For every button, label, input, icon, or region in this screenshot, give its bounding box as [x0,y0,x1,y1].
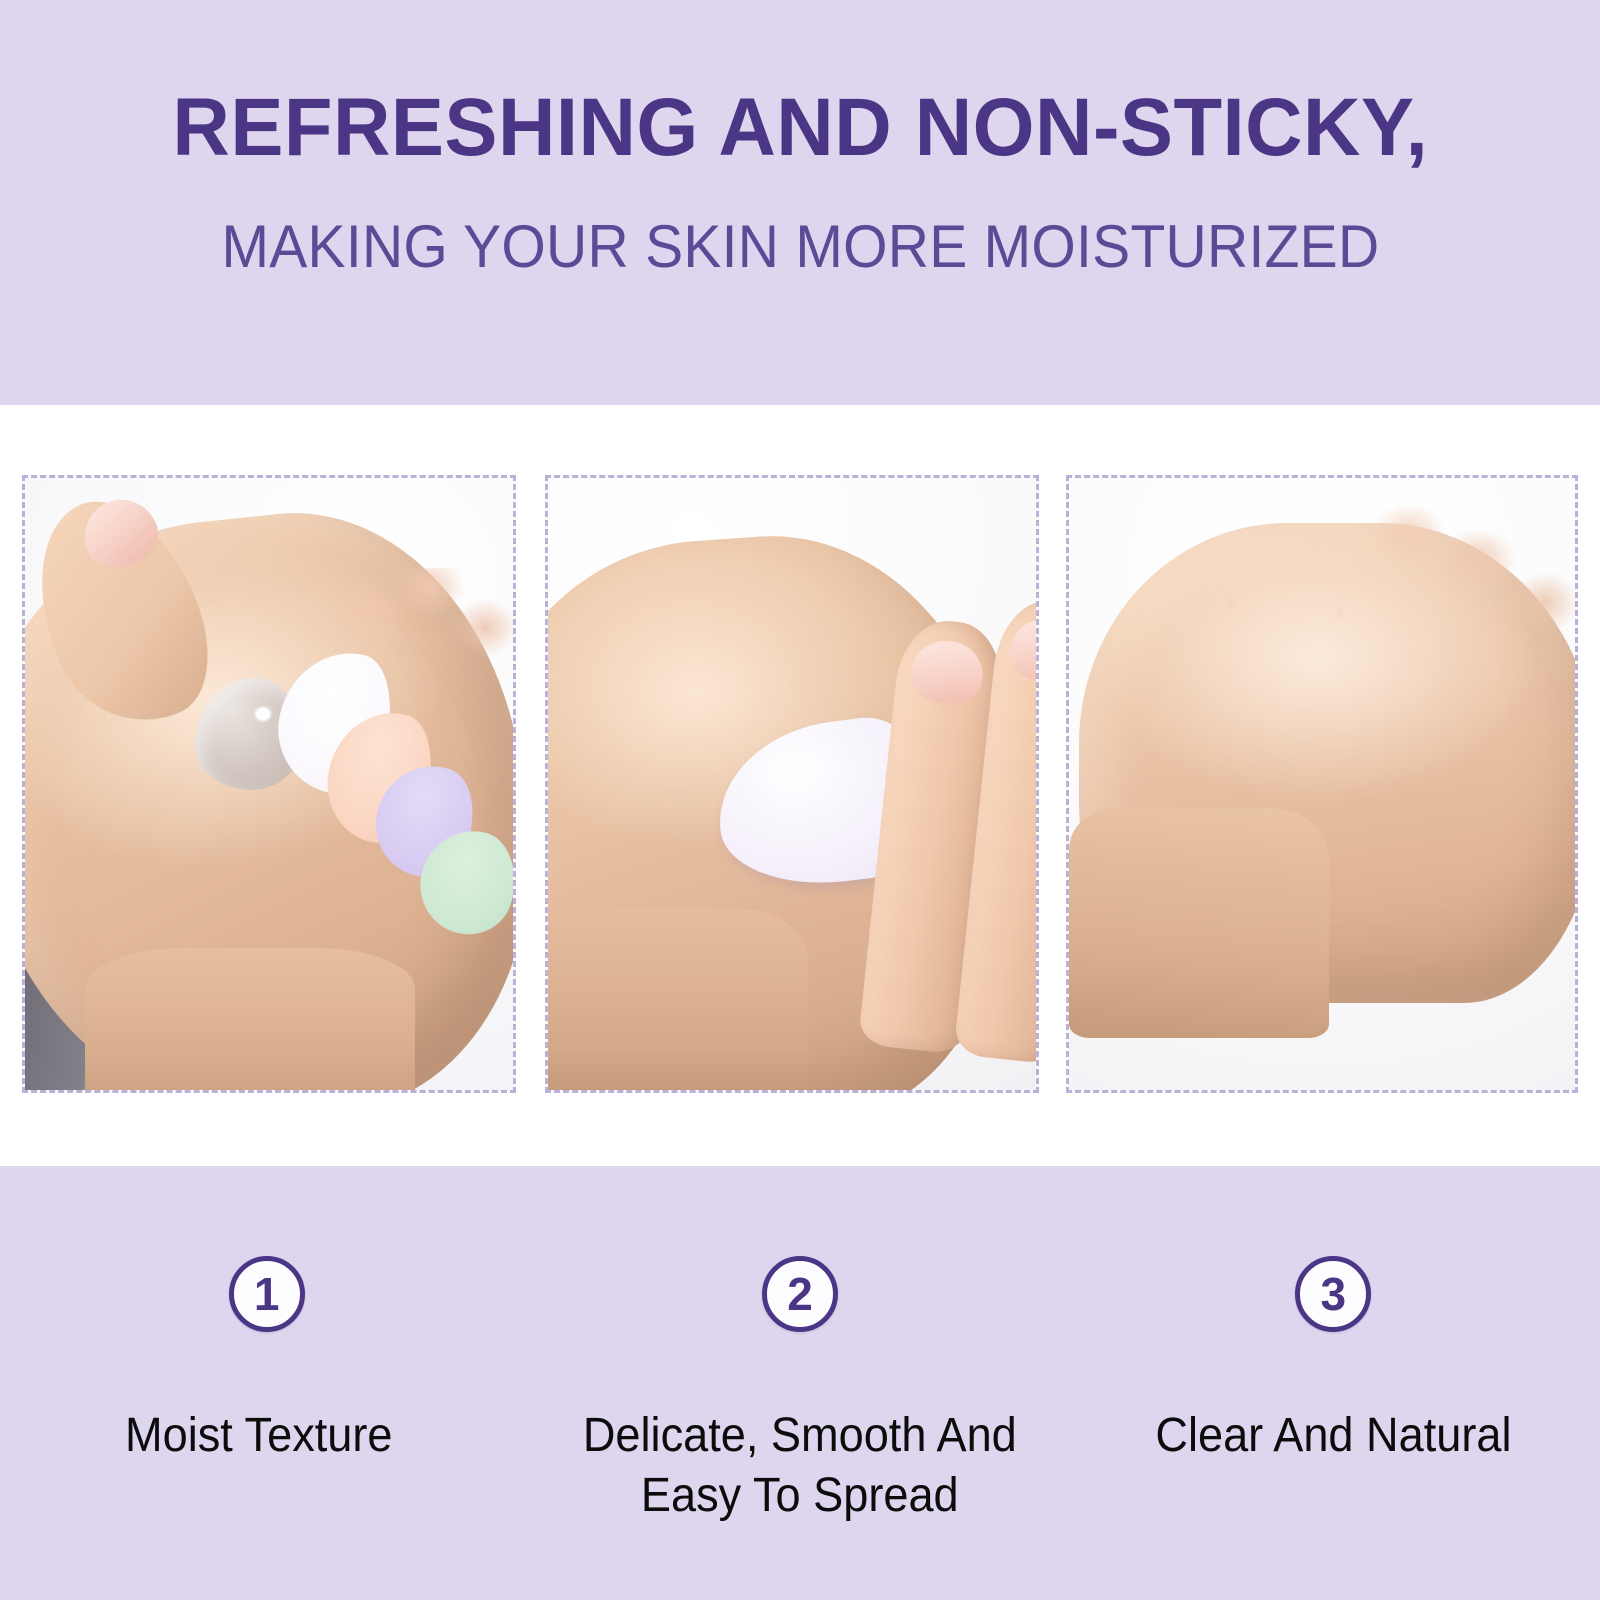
feature-number-3: 3 [1321,1271,1347,1317]
features-band: 1 Moist Texture 2 Delicate, Smooth And E… [0,1166,1600,1600]
wrist-shape [548,908,808,1090]
photo-fingers-spreading-cream [548,478,1036,1090]
product-marketing-banner: REFRESHING AND NON-STICKY, MAKING YOUR S… [0,0,1600,1600]
photo-panel-easy-to-spread [545,475,1039,1093]
feature-item-2: 2 Delicate, Smooth And Easy To Spread [533,1166,1066,1526]
photo-hand-with-swatches [25,478,513,1090]
feature-label-2: Delicate, Smooth And Easy To Spread [583,1406,1017,1526]
feature-number-badge-2: 2 [762,1256,838,1332]
headline: REFRESHING AND NON-STICKY, [172,85,1428,171]
photo-clean-hand [1069,478,1575,1090]
feature-number-badge-3: 3 [1295,1256,1371,1332]
header-band: REFRESHING AND NON-STICKY, MAKING YOUR S… [0,0,1600,405]
feature-number-2: 2 [787,1271,813,1317]
photo-panel-clear-and-natural [1066,475,1578,1093]
feature-label-3: Clear And Natural [1155,1406,1511,1466]
feature-number-badge-1: 1 [229,1256,305,1332]
vein-shading [1189,588,1489,698]
feature-label-1: Moist Texture [125,1406,392,1466]
subheadline: MAKING YOUR SKIN MORE MOISTURIZED [221,214,1379,280]
photo-panel-moist-texture [22,475,516,1093]
feature-number-1: 1 [254,1271,280,1317]
wrist-shape [1069,808,1329,1038]
wrist-shape [85,948,415,1090]
feature-item-1: 1 Moist Texture [0,1166,533,1466]
features-list: 1 Moist Texture 2 Delicate, Smooth And E… [0,1166,1600,1600]
photo-strip [0,405,1600,1166]
feature-item-3: 3 Clear And Natural [1067,1166,1600,1466]
